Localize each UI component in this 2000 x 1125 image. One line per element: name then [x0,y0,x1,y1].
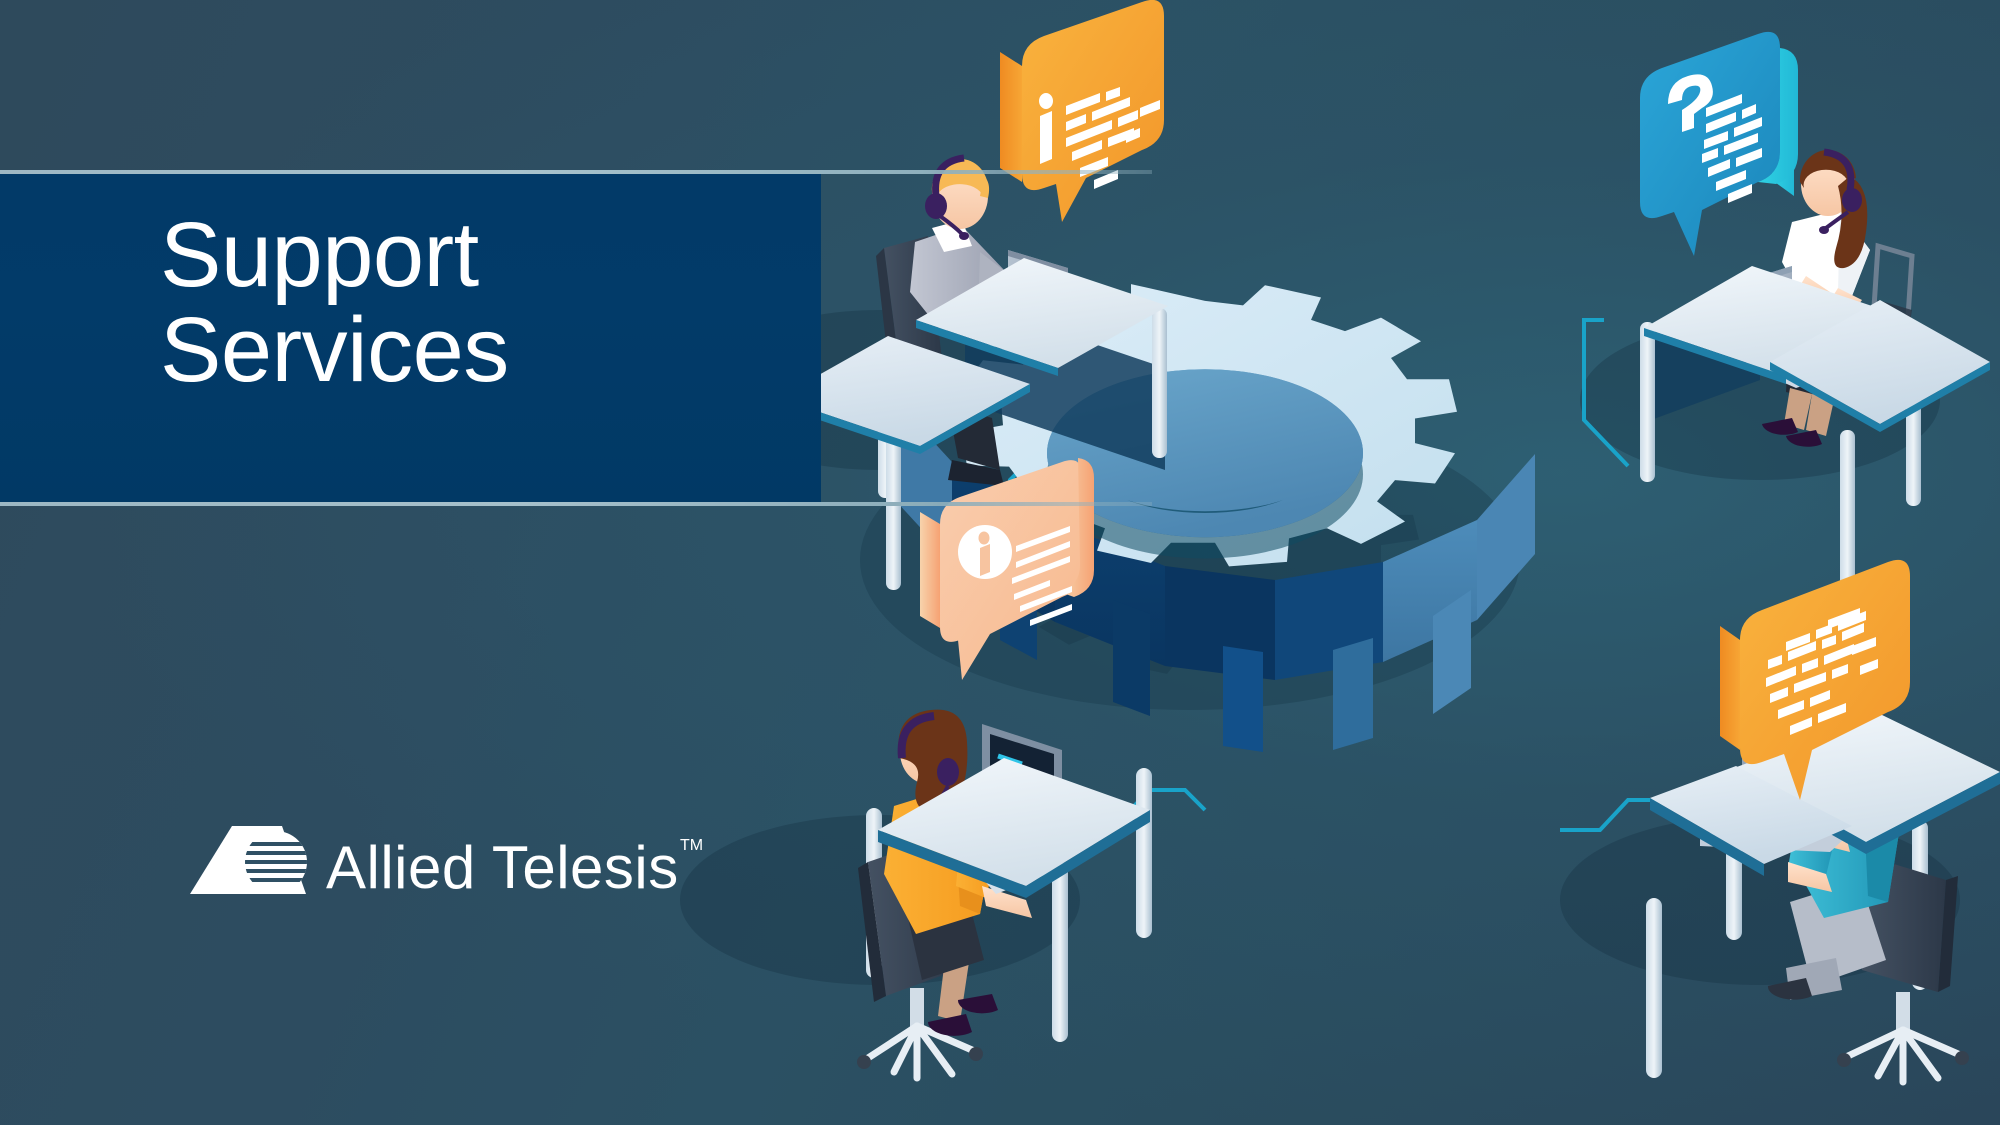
office-chair [1872,246,1912,410]
info-glyph-circle [958,525,1012,579]
allied-telesis-logo-icon: Allied Telesis TM [130,818,730,938]
agent-bottom-left [884,710,1032,1036]
laptop [936,724,1062,894]
hair [898,710,967,814]
bubble-text-lines [1702,94,1762,203]
laptop [962,250,1068,362]
headset-icon [1824,152,1851,190]
laptop-screen [1750,722,1808,824]
desk-top [1650,766,1852,864]
headset-icon [1844,708,1876,748]
desk-leg [878,348,893,498]
laptop [1746,266,1844,388]
gear-shadow [1007,434,1419,675]
panel-bottom-rule [0,502,1152,506]
workstation-top-right [1640,150,1990,590]
headset-icon [902,716,934,758]
illustration-scene [0,0,2000,1125]
desk-leg [1640,322,1655,482]
workstation-top-left [778,158,1168,590]
agent-bottom-right [1768,702,1902,1000]
desk-leg [886,430,901,590]
agent-top-left [910,158,1008,486]
scene-svg [0,0,2000,1125]
bubble-body [1740,560,1910,800]
desk-leg [1912,820,1928,990]
desk-top [1644,266,1896,376]
hair [1808,702,1877,776]
brand-name: Allied Telesis [326,834,679,901]
question-glyph [1668,0,1713,132]
info-glyph-dot [1039,93,1053,109]
office-chair [1837,856,1969,1082]
desk-leg [1726,770,1742,940]
bubble-question-top-right [1640,0,1798,256]
chat-bubble-glyph [1756,755,1788,788]
page-title: Support Services [160,208,800,398]
brand-trademark: TM [680,837,703,854]
bubble-message-bottom-right [1720,560,1910,800]
info-glyph [1040,111,1052,164]
agent-top-right [1762,150,1870,447]
desk-leg [1646,898,1662,1078]
workstation-bottom-right [1646,702,2000,1082]
bubble-body [1640,32,1780,256]
bubble-info-bottom-left [920,458,1094,680]
bubble-body [1022,0,1164,222]
headset-icon [936,158,964,196]
desk-leg [1052,862,1068,1042]
code-lines [998,756,1046,824]
bubble-text-lines [1012,526,1072,626]
support-services-banner: Support Services [0,0,2000,1125]
central-gear [895,284,1535,752]
bubble-info-top-left [1000,0,1164,222]
laptop-screen [990,734,1054,838]
gear-hole [1047,369,1363,537]
desk-leg [1840,430,1855,590]
laptop [1700,710,1858,854]
bubble-body [940,460,1082,680]
desk-leg [1152,308,1167,458]
brand-logo[interactable]: Allied Telesis TM [130,818,730,938]
desk-leg [1906,356,1921,506]
desk-top [878,758,1150,886]
desk-top [916,258,1168,368]
floor-shadows [680,310,1960,985]
desk-leg [1136,768,1152,938]
connector-lines [1010,320,1665,830]
hair [1834,176,1867,268]
workstation-bottom-left [857,710,1152,1078]
gear-top-face [961,284,1457,566]
bubble-text-lines [1766,608,1878,735]
office-chair [876,236,942,418]
desk-top [1734,714,2000,842]
info-glyph [980,544,990,576]
chat-bubble-glyph [1780,767,1810,800]
desk-top [1770,300,1990,424]
desk-leg [866,808,882,978]
office-chair [857,836,983,1078]
logo-striped-circle [245,831,307,893]
